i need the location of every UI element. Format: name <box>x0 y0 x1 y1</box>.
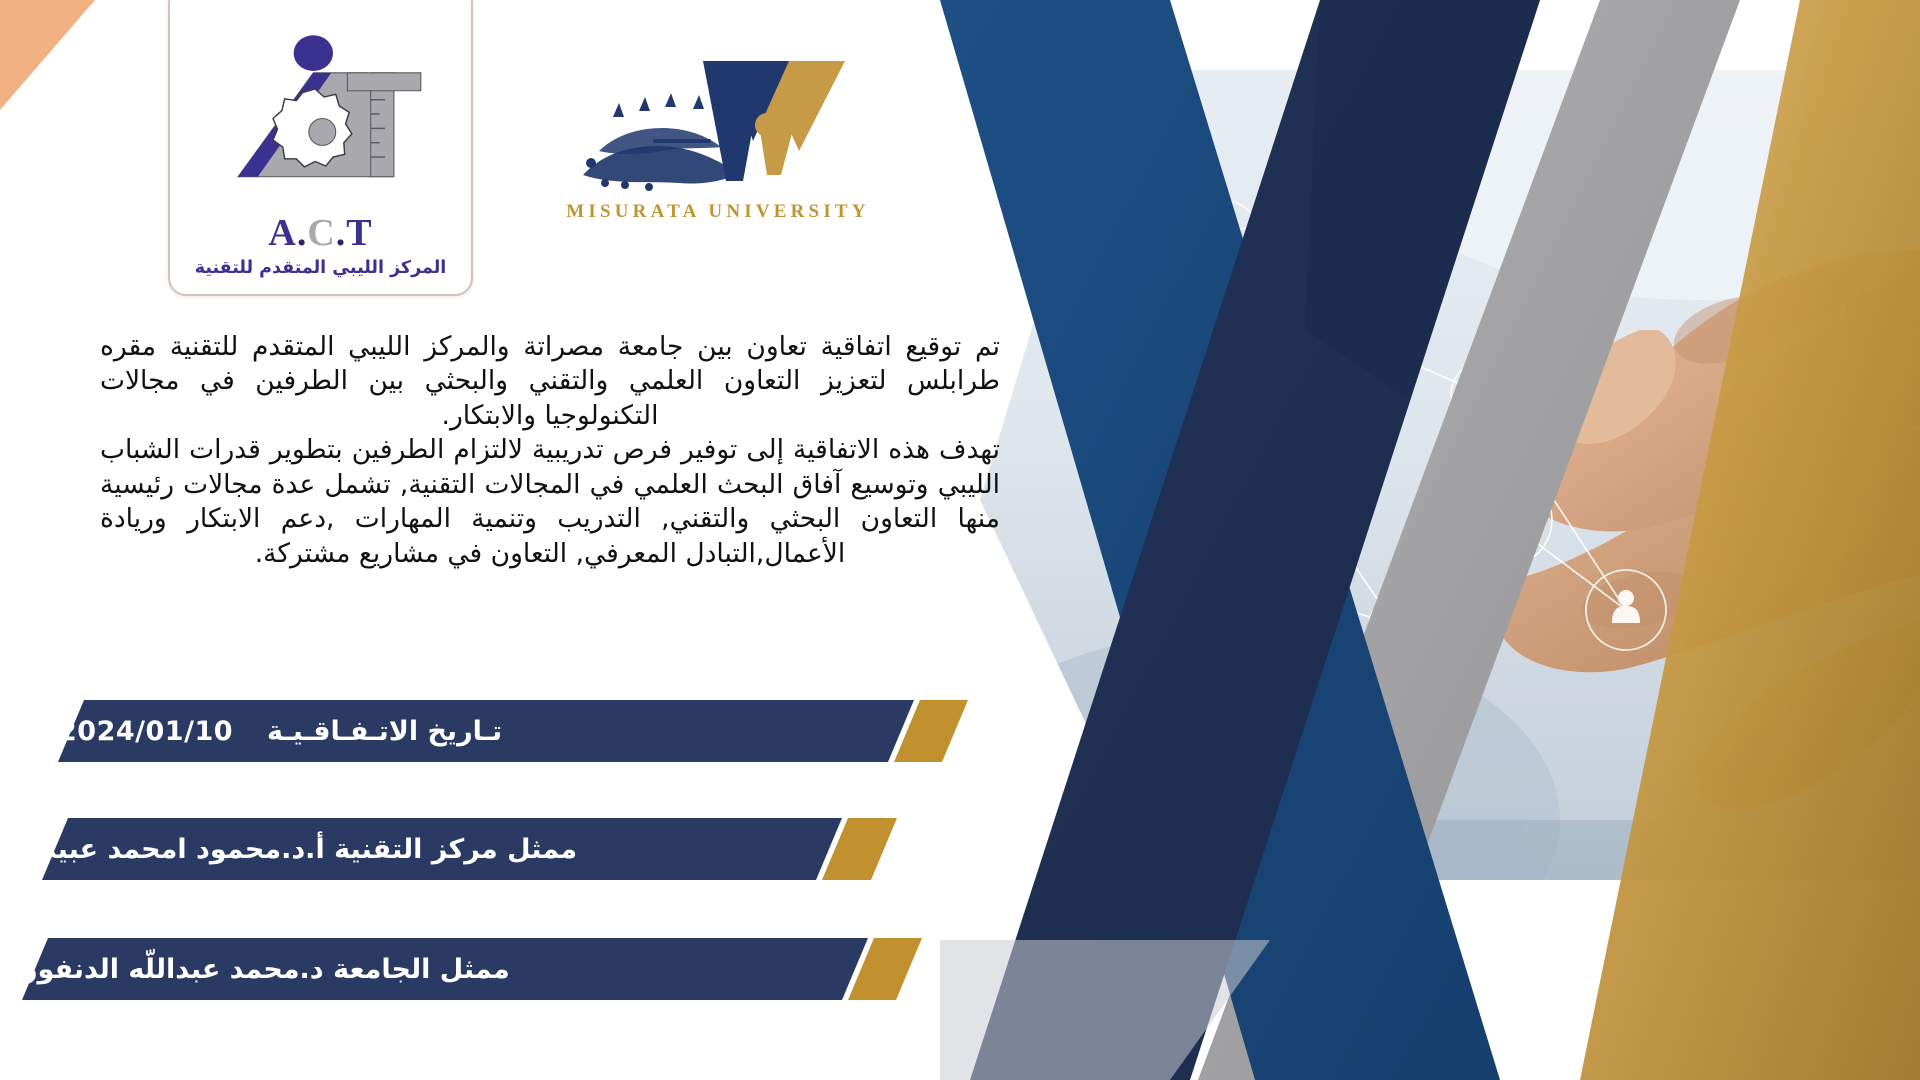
act-logo-card: A.C.T المركز الليبي المتقدم للتقنية <box>168 0 473 296</box>
logo-row: A.C.T المركز الليبي المتقدم للتقنية <box>0 0 940 310</box>
decorative-artwork: ? ? <box>940 0 1920 1080</box>
bar-tech-center-representative[interactable]: ممثل مركز التقنية أ.د.محمود امحمد عبيد <box>42 818 897 880</box>
artwork-svg: ? ? <box>940 0 1920 1080</box>
slide-canvas: ? ? <box>0 0 1920 1080</box>
agreement-paragraph-2: تهدف هذه الاتفاقية إلى توفير فرص تدريبية… <box>100 433 1000 571</box>
misurata-university-logo: MISURATA UNIVERSITY <box>548 55 888 240</box>
bar-agreement-date-label: تـاريخ الاتـفـاقـيـة 2024/01/10 <box>58 700 968 762</box>
act-monogram-icon <box>213 28 428 218</box>
bar-tech-center-representative-label: ممثل مركز التقنية أ.د.محمود امحمد عبيد <box>42 818 897 880</box>
info-bars: تـاريخ الاتـفـاقـيـة 2024/01/10 ممثل مرك… <box>0 700 980 1060</box>
bar-agreement-date-title: تـاريخ الاتـفـاقـيـة <box>267 716 502 747</box>
bar-agreement-date[interactable]: تـاريخ الاتـفـاقـيـة 2024/01/10 <box>58 700 968 762</box>
agreement-description: تم توقيع اتفاقية تعاون بين جامعة مصراتة … <box>100 330 1000 571</box>
act-acronym: A.C.T <box>268 214 372 252</box>
agreement-paragraph-1: تم توقيع اتفاقية تعاون بين جامعة مصراتة … <box>100 330 1000 433</box>
bar-agreement-date-value: 2024/01/10 <box>58 716 233 747</box>
misurata-university-english-name: MISURATA UNIVERSITY <box>566 201 869 223</box>
bar-university-representative-label: ممثل الجامعة د.محمد عبداللّه الدنفور <box>22 938 922 1000</box>
bar-university-representative[interactable]: ممثل الجامعة د.محمد عبداللّه الدنفور <box>22 938 922 1000</box>
act-subtitle: المركز الليبي المتقدم للتقنية <box>195 258 447 278</box>
misurata-university-emblem-icon <box>553 55 883 205</box>
